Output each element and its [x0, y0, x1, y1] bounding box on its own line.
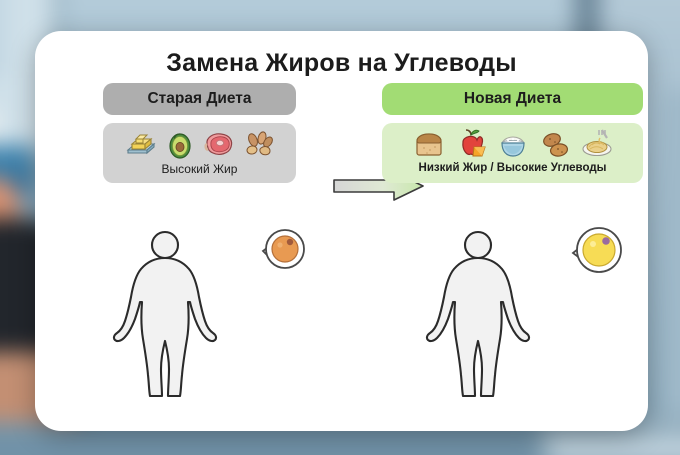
rice-bowl-icon: [496, 128, 530, 159]
new-diet-food-panel: Низкий Жир / Высокие Углеводы: [382, 123, 643, 183]
steak-icon: [202, 128, 236, 159]
bread-icon: [412, 128, 446, 159]
fat-cell-orange-icon: [257, 225, 306, 274]
old-diet-food-caption: Высокий Жир: [103, 162, 296, 176]
new-diet-column: Новая Диета: [380, 83, 645, 423]
page-title: Замена Жиров на Углеводы: [35, 49, 648, 78]
old-diet-column: Старая Диета: [67, 83, 332, 423]
old-diet-figure: [67, 223, 332, 398]
fat-cell-yellow-icon: [568, 223, 624, 279]
old-diet-food-panel: Высокий Жир: [103, 123, 296, 183]
new-diet-header: Новая Диета: [382, 83, 643, 115]
new-diet-food-caption: Низкий Жир / Высокие Углеводы: [382, 162, 643, 174]
new-diet-figure: [380, 223, 645, 398]
potato-icon: [538, 128, 572, 159]
apple-icon: [454, 128, 488, 159]
pasta-icon: [580, 128, 614, 159]
nuts-icon: [241, 128, 275, 159]
butter-icon: [124, 128, 158, 159]
infographic-card: Замена Жиров на Углеводы Старая Диета: [35, 31, 648, 431]
old-diet-header: Старая Диета: [103, 83, 296, 115]
avocado-icon: [163, 128, 197, 159]
